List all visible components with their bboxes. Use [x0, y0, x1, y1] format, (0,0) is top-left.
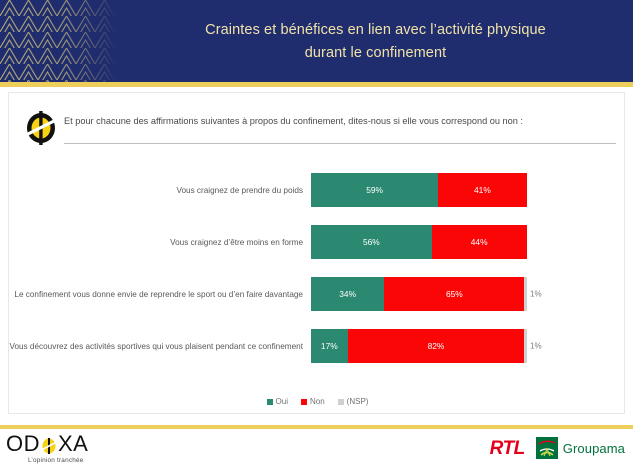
groupama-wordmark: Groupama: [563, 441, 625, 456]
chart-row: Vous découvrez des activités sportives q…: [9, 321, 626, 371]
bar-segment-non[interactable]: 44%: [432, 225, 527, 259]
page-footer: OD XA L’opinion tranchée RTL: [0, 429, 633, 472]
odoxa-wordmark: OD XA: [6, 433, 88, 455]
bar-segment-value: 17%: [321, 341, 338, 351]
chart-legend: Oui Non (NSP): [9, 397, 626, 406]
odoxa-tagline: L’opinion tranchée: [28, 457, 88, 464]
legend-label: (NSP): [347, 397, 369, 406]
bar-segment-oui[interactable]: 17%: [311, 329, 348, 363]
bar-segment-value: 65%: [446, 289, 463, 299]
bar-segment-oui[interactable]: 56%: [311, 225, 432, 259]
bar-segment-value: 41%: [474, 185, 491, 195]
bar-segment-nsp[interactable]: [524, 329, 526, 363]
bar-segment-value-outside: 1%: [530, 290, 542, 299]
legend-swatch-icon: [301, 399, 307, 405]
page-title-line-1: Craintes et bénéfices en lien avec l’act…: [205, 19, 546, 41]
legend-swatch-icon: [338, 399, 344, 405]
legend-label: Non: [310, 397, 325, 406]
bar-segment-non[interactable]: 82%: [348, 329, 525, 363]
bar-segment-value: 56%: [363, 237, 380, 247]
chevron-pattern-icon: [0, 0, 118, 82]
chart-bar-track: 59% 41%: [311, 165, 611, 215]
odoxa-wordmark-part-1: OD: [6, 433, 40, 455]
odoxa-brand: OD XA L’opinion tranchée: [6, 433, 88, 464]
legend-swatch-icon: [267, 399, 273, 405]
chart-bar-track: 17% 82% 1%: [311, 321, 611, 371]
odoxa-o-logo-icon: [41, 436, 57, 452]
chart-row-label: Le confinement vous donne envie de repre…: [9, 289, 311, 300]
bar-segment-non[interactable]: 41%: [438, 173, 526, 207]
bar-segment-value: 59%: [366, 185, 383, 195]
content-panel: Et pour chacune des affirmations suivant…: [8, 92, 625, 414]
page-title: Craintes et bénéfices en lien avec l’act…: [118, 0, 633, 82]
legend-item-non[interactable]: Non: [301, 397, 325, 406]
bar-segment-non[interactable]: 65%: [384, 277, 524, 311]
page-title-line-2: durant le confinement: [305, 42, 447, 64]
chart-row: Vous craignez de prendre du poids 59% 41…: [9, 165, 626, 215]
bar-segment-oui[interactable]: 34%: [311, 277, 384, 311]
chart-row-label: Vous découvrez des activités sportives q…: [9, 341, 311, 352]
bar-segment-nsp[interactable]: [524, 277, 526, 311]
legend-item-nsp[interactable]: (NSP): [338, 397, 369, 406]
bar-segment-value: 44%: [471, 237, 488, 247]
chart-row-label: Vous craignez de prendre du poids: [9, 185, 311, 196]
chart-row-label: Vous craignez d’être moins en forme: [9, 237, 311, 248]
chart-bar-track: 34% 65% 1%: [311, 269, 611, 319]
bar-segment-value-outside: 1%: [530, 342, 542, 351]
stacked-bar-chart: Vous craignez de prendre du poids 59% 41…: [9, 165, 626, 415]
bar-segment-value: 82%: [428, 341, 445, 351]
groupama-logo-icon[interactable]: Groupama: [536, 437, 625, 459]
bar-segment-value: 34%: [339, 289, 356, 299]
rtl-logo-icon[interactable]: RTL: [490, 439, 525, 458]
chart-row: Vous craignez d’être moins en forme 56% …: [9, 217, 626, 267]
header-gold-divider: [0, 82, 633, 87]
partner-logos: RTL Groupama: [490, 437, 625, 459]
bar-segment-oui[interactable]: 59%: [311, 173, 438, 207]
legend-item-oui[interactable]: Oui: [267, 397, 288, 406]
odoxa-circle-logo-icon: [22, 107, 60, 149]
question-divider: [64, 143, 616, 144]
page-header: Craintes et bénéfices en lien avec l’act…: [0, 0, 633, 82]
survey-question: Et pour chacune des affirmations suivant…: [64, 115, 614, 128]
groupama-mark-icon: [536, 437, 558, 459]
chart-row: Le confinement vous donne envie de repre…: [9, 269, 626, 319]
legend-label: Oui: [276, 397, 288, 406]
chart-bar-track: 56% 44%: [311, 217, 611, 267]
odoxa-wordmark-part-2: XA: [58, 433, 88, 455]
